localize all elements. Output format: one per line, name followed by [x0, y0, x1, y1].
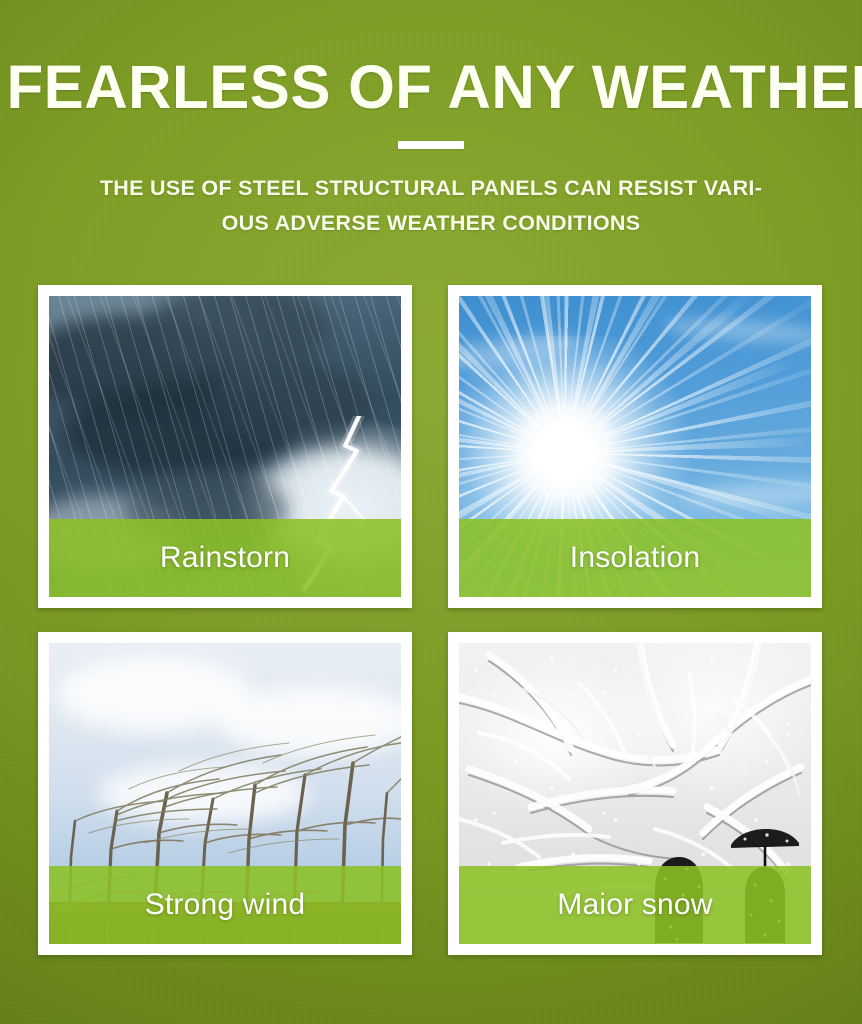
title-divider [398, 141, 464, 149]
major-snow-photo: Maior snow [459, 643, 811, 944]
subtitle-line-1: THE USE OF STEEL STRUCTURAL PANELS CAN R… [81, 171, 781, 206]
strong-wind-caption-band: Strong wind [49, 866, 401, 944]
subtitle-line-2: OUS ADVERSE WEATHER CONDITIONS [81, 206, 781, 241]
insolation-caption-band: Insolation [459, 519, 811, 597]
page-title: FEARLESS OF ANY WEATHER [6, 55, 855, 119]
major-snow-caption-band: Maior snow [459, 866, 811, 944]
weather-card-insolation[interactable]: Insolation [448, 285, 822, 608]
page-subtitle: THE USE OF STEEL STRUCTURAL PANELS CAN R… [81, 171, 781, 241]
insolation-photo: Insolation [459, 296, 811, 597]
rainstorm-caption-band: Rainstorn [49, 519, 401, 597]
strong-wind-photo: Strong wind [49, 643, 401, 944]
weather-feature-section: FEARLESS OF ANY WEATHER THE USE OF STEEL… [0, 0, 862, 1024]
rainstorm-photo: Rainstorn [49, 296, 401, 597]
weather-card-strong-wind[interactable]: Strong wind [38, 632, 412, 955]
header: FEARLESS OF ANY WEATHER THE USE OF STEEL… [0, 0, 862, 241]
rainstorm-caption-label: Rainstorn [160, 541, 290, 575]
insolation-caption-label: Insolation [570, 541, 700, 575]
weather-card-grid: Rainstorn Insolation [38, 285, 822, 955]
weather-card-rainstorm[interactable]: Rainstorn [38, 285, 412, 608]
strong-wind-caption-label: Strong wind [145, 888, 306, 922]
major-snow-caption-label: Maior snow [557, 888, 712, 922]
weather-card-major-snow[interactable]: Maior snow [448, 632, 822, 955]
